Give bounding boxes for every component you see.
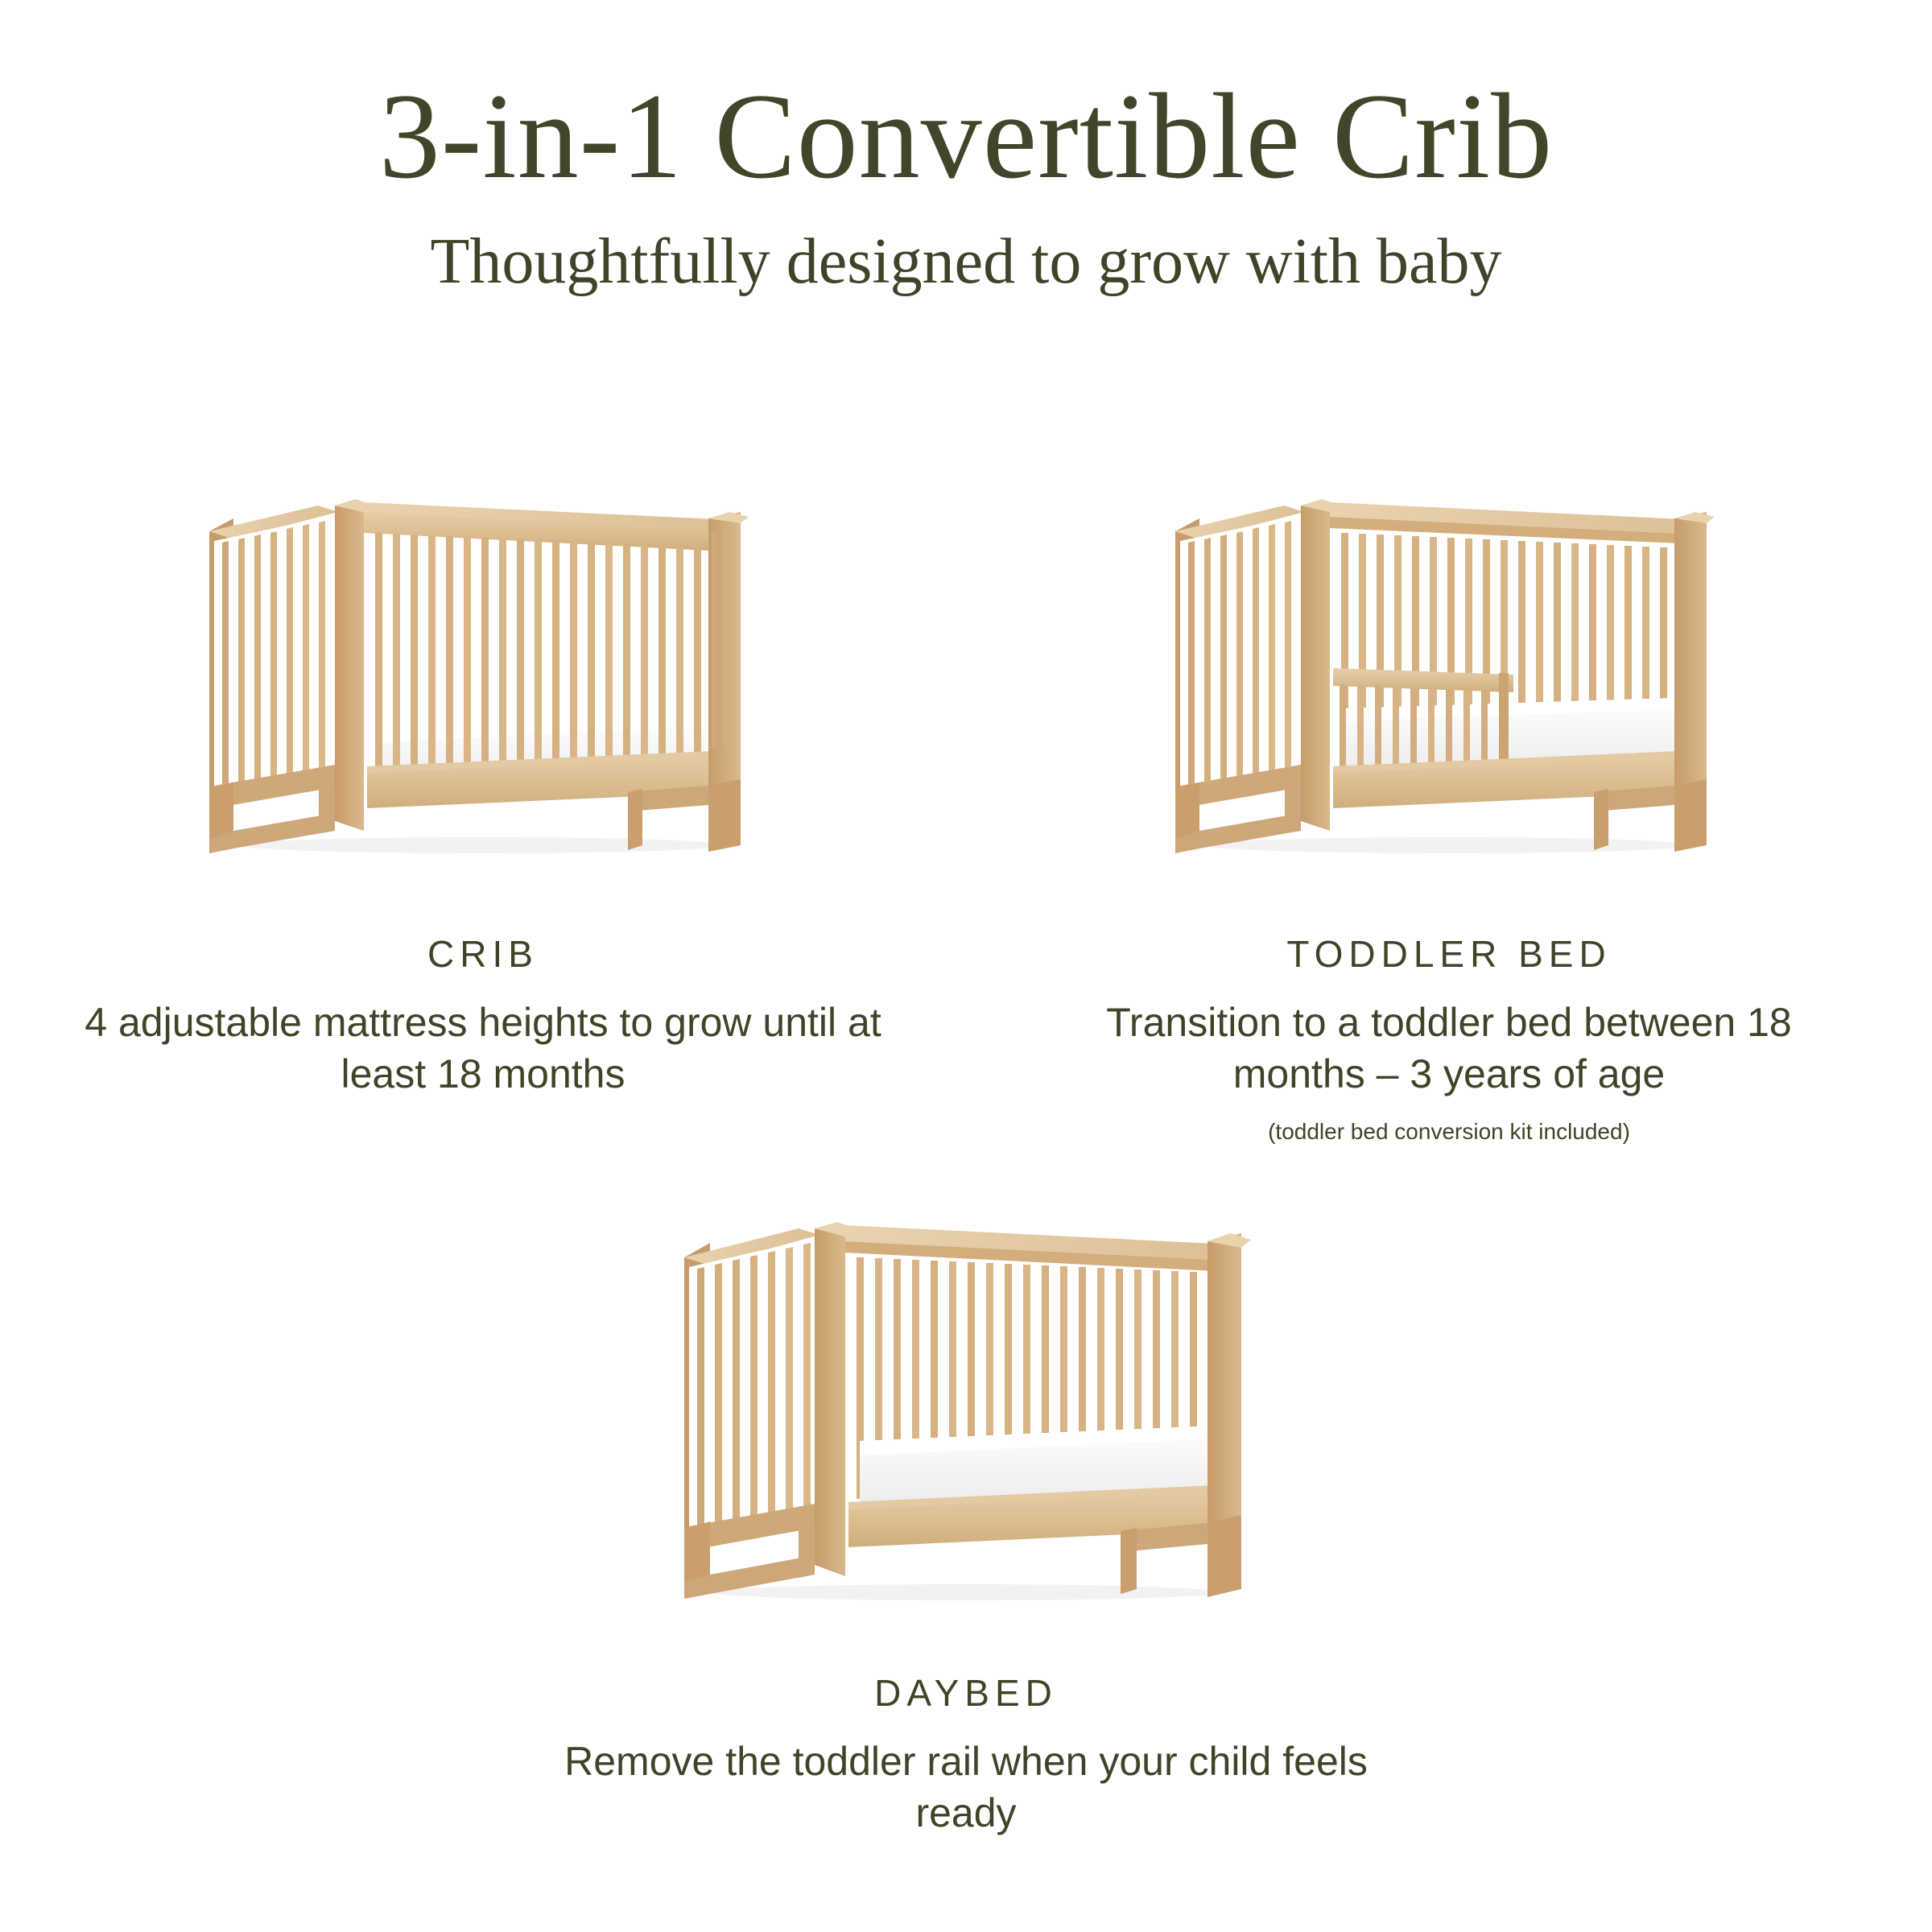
- top-panel-row: CRIB 4 adjustable mattress heights to gr…: [0, 467, 1932, 1146]
- panel-toddler-bed: TODDLER BED Transition to a toddler bed …: [966, 467, 1932, 1146]
- caption-title: CRIB: [80, 932, 885, 976]
- caption-daybed: DAYBED Remove the toddler rail when your…: [563, 1671, 1368, 1839]
- infographic-page: 3-in-1 Convertible Crib Thoughtfully des…: [0, 0, 1932, 1932]
- header: 3-in-1 Convertible Crib Thoughtfully des…: [0, 0, 1932, 297]
- panel-daybed: DAYBED Remove the toddler rail when your…: [483, 1183, 1449, 1839]
- panel-crib: CRIB 4 adjustable mattress heights to gr…: [0, 467, 966, 1146]
- crib-illustration: [177, 467, 789, 869]
- caption-title: DAYBED: [563, 1671, 1368, 1715]
- caption-toddler-bed: TODDLER BED Transition to a toddler bed …: [1046, 932, 1851, 1146]
- caption-note: (toddler bed conversion kit included): [1046, 1117, 1851, 1146]
- caption-body: Transition to a toddler bed between 18 m…: [1046, 997, 1851, 1100]
- caption-body: Remove the toddler rail when your child …: [563, 1736, 1368, 1839]
- toddler-bed-illustration: [1143, 467, 1755, 869]
- page-title: 3-in-1 Convertible Crib: [0, 74, 1932, 199]
- caption-crib: CRIB 4 adjustable mattress heights to gr…: [80, 932, 885, 1100]
- daybed-illustration: [644, 1183, 1288, 1618]
- page-subtitle: Thoughtfully designed to grow with baby: [0, 226, 1932, 297]
- bottom-panel-row: DAYBED Remove the toddler rail when your…: [0, 1183, 1932, 1839]
- caption-title: TODDLER BED: [1046, 932, 1851, 976]
- caption-body: 4 adjustable mattress heights to grow un…: [80, 997, 885, 1100]
